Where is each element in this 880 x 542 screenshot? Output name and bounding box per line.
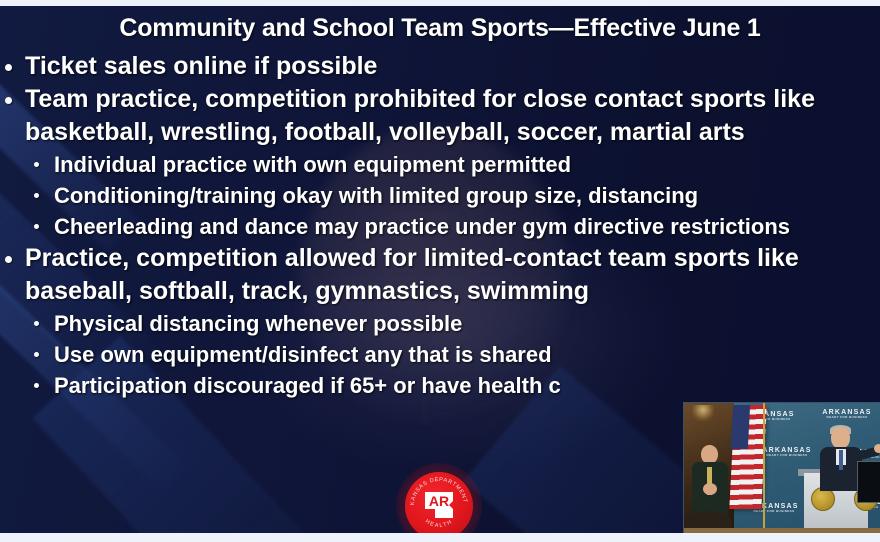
- sub-bullet-item: Cheerleading and dance may practice unde…: [0, 211, 880, 242]
- svg-text:AR: AR: [429, 493, 449, 509]
- slide-screenshot: Community and School Team Sports—Effecti…: [0, 0, 880, 542]
- flag-pole: [763, 403, 765, 534]
- bullet-text: Individual practice with own equipment p…: [54, 149, 880, 180]
- backdrop-logo: ARKANSAS READY FOR BUSINESS: [758, 447, 816, 457]
- seal-state-monogram: AR: [419, 485, 459, 525]
- bullet-item: Team practice, competition prohibited fo…: [0, 83, 880, 149]
- sub-bullet-item: Physical distancing whenever possible: [0, 308, 880, 339]
- monitor-screen: [857, 461, 880, 503]
- bullet-marker-icon: [34, 352, 39, 357]
- person-hand: [874, 444, 880, 453]
- backdrop-logo-subline: READY FOR BUSINESS: [758, 454, 816, 457]
- bullet-marker-icon: [34, 162, 39, 167]
- person-head: [831, 427, 850, 449]
- bullet-marker-icon: [5, 64, 12, 71]
- backdrop-logo: ARKANSAS READY FOR BUSINESS: [818, 409, 876, 419]
- person-tie: [839, 450, 843, 470]
- bullet-marker-icon: [34, 321, 39, 326]
- slide-bullet-list: Ticket sales online if possible Team pra…: [0, 50, 880, 401]
- bullet-text: Cheerleading and dance may practice unde…: [54, 211, 880, 242]
- bullet-text: Practice, competition allowed for limite…: [25, 242, 880, 308]
- bullet-marker-icon: [5, 256, 12, 263]
- bullet-marker-icon: [5, 97, 12, 104]
- arkansas-department-of-health-logo: ARKANSAS DEPARTMENT OF HEALTH AR: [405, 472, 473, 533]
- bullet-marker-icon: [34, 383, 39, 388]
- press-conference-video-overlay[interactable]: ARKANSAS READY FOR BUSINESS ARKANSAS REA…: [683, 402, 880, 534]
- bullet-text: Physical distancing whenever possible: [54, 308, 880, 339]
- sub-bullet-item: Use own equipment/disinfect any that is …: [0, 339, 880, 370]
- bullet-text: Participation discouraged if 65+ or have…: [54, 370, 880, 401]
- bullet-text: Team practice, competition prohibited fo…: [25, 83, 880, 149]
- bullet-item: Ticket sales online if possible: [0, 50, 880, 83]
- bullet-text: Conditioning/training okay with limited …: [54, 180, 880, 211]
- bullet-text: Ticket sales online if possible: [25, 50, 880, 83]
- sub-bullet-item: Participation discouraged if 65+ or have…: [0, 370, 880, 401]
- bullet-marker-icon: [34, 224, 39, 229]
- bullet-item: Practice, competition allowed for limite…: [0, 242, 880, 308]
- person-hands: [703, 483, 717, 495]
- slide-title: Community and School Team Sports—Effecti…: [0, 14, 880, 43]
- backdrop-logo-subline: READY FOR BUSINESS: [818, 416, 876, 419]
- bullet-marker-icon: [34, 193, 39, 198]
- chandelier-light-icon: [692, 405, 714, 421]
- flag-canton: [731, 405, 750, 449]
- sub-bullet-item: Individual practice with own equipment p…: [0, 149, 880, 180]
- bullet-text: Use own equipment/disinfect any that is …: [54, 339, 880, 370]
- sub-bullet-item: Conditioning/training okay with limited …: [0, 180, 880, 211]
- letterbox-bottom: [0, 533, 880, 542]
- backdrop-logo-subline: READY FOR BUSINESS: [746, 510, 802, 513]
